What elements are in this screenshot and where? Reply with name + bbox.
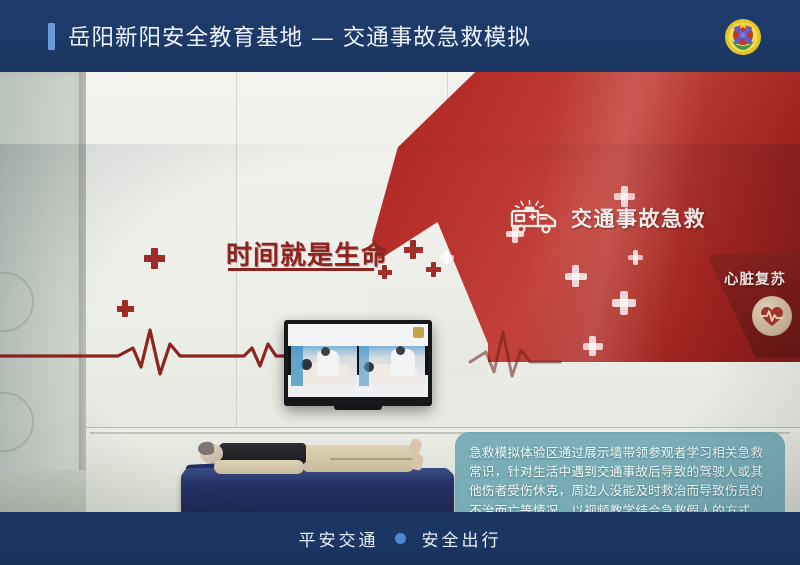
mannequin-leg-seam — [330, 458, 416, 460]
ambulance-icon — [508, 200, 562, 236]
wall-mounted-display[interactable] — [284, 320, 432, 406]
page-title: 岳阳新阳安全教育基地 — 交通事故急救模拟 — [68, 20, 531, 52]
title-accent-bar — [48, 23, 55, 50]
traffic-police-emblem-icon — [720, 13, 766, 59]
first-aid-sign-label: 交通事故急救 — [571, 203, 706, 233]
cross-decor-icon — [410, 240, 416, 259]
wall-slogan-underline — [228, 268, 374, 271]
cross-decor-icon — [633, 250, 638, 265]
description-callout: 急救模拟体验区通过展示墙带领参观者学习相关急救常识，针对生活中遇到交通事故后导致… — [455, 432, 785, 512]
heart-ecg-icon — [752, 296, 792, 336]
cross-decor-icon — [151, 248, 158, 269]
footer-right-text: 安全出行 — [422, 526, 502, 551]
wall-ring-decor — [0, 392, 34, 452]
tv-video-left — [291, 346, 357, 386]
cross-decor-icon — [444, 250, 449, 264]
page-root: 岳阳新阳安全教育基地 — 交通事故急救模拟 — [0, 0, 800, 565]
tv-screen — [288, 324, 428, 397]
traffic-first-aid-sign: 交通事故急救 — [508, 200, 706, 236]
cross-decor-icon — [572, 265, 579, 287]
wall-slogan: 时间就是生命 — [226, 235, 388, 272]
tv-video-right — [359, 346, 425, 386]
footer-dot-separator — [395, 533, 406, 544]
side-wall-column — [0, 72, 86, 512]
page-header: 岳阳新阳安全教育基地 — 交通事故急救模拟 — [0, 0, 800, 72]
mannequin-arm — [214, 460, 304, 474]
tv-stand — [334, 406, 382, 410]
footer-left-text: 平安交通 — [299, 526, 379, 551]
callout-text: 急救模拟体验区通过展示墙带领参观者学习相关急救常识，针对生活中遇到交通事故后导致… — [469, 443, 772, 512]
mannequin-hand — [303, 461, 316, 472]
cross-decor-icon — [620, 291, 628, 315]
cross-decor-icon — [122, 300, 128, 317]
cross-decor-icon — [431, 262, 436, 277]
tv-channel-logo-icon — [413, 327, 424, 338]
page-footer: 平安交通 安全出行 — [0, 512, 800, 565]
exhibit-photo: 时间就是生命 — [0, 72, 800, 512]
cpr-badge-label: 心脏复苏 — [724, 268, 786, 289]
